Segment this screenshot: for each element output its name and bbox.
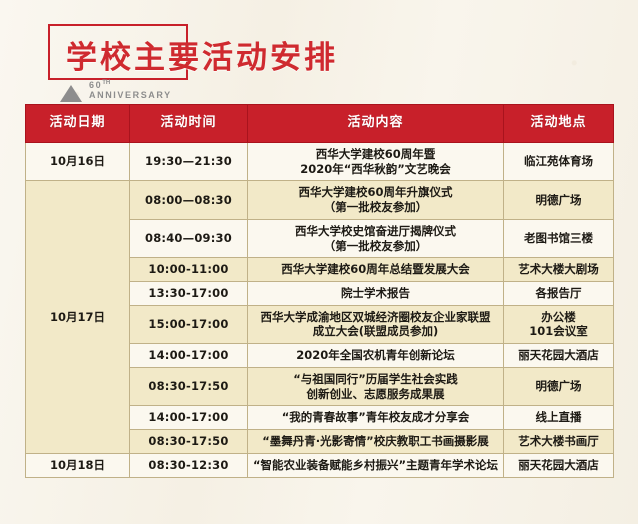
- cell-line: 西华大学成渝地区双城经济圈校友企业家联盟: [251, 310, 500, 325]
- cell-activity-content: “墨舞丹青·光影寄情”校庆教职工书画摄影展: [248, 430, 504, 454]
- table-row: 10月18日08:30-12:30“智能农业装备赋能乡村振兴”主题青年学术论坛丽…: [26, 453, 614, 477]
- cell-line: 院士学术报告: [251, 286, 500, 301]
- cell-activity-time: 10:00-11:00: [130, 258, 248, 282]
- cell-activity-content: 西华大学成渝地区双城经济圈校友企业家联盟成立大会(联盟成员参加): [248, 305, 504, 343]
- cell-activity-time: 13:30-17:00: [130, 282, 248, 306]
- cell-line: 艺术大楼大剧场: [507, 262, 610, 277]
- table-row: 10月17日08:00—08:30西华大学建校60周年升旗仪式（第一批校友参加）…: [26, 181, 614, 219]
- table-header-row: 活动日期 活动时间 活动内容 活动地点: [26, 105, 614, 143]
- cell-activity-place: 办公楼101会议室: [504, 305, 614, 343]
- cell-activity-time: 08:00—08:30: [130, 181, 248, 219]
- cell-activity-content: 西华大学建校60周年暨2020年“西华秋韵”文艺晚会: [248, 143, 504, 181]
- poster-sheet: 学校主要活动安排 60TH ANNIVERSARY 活动日期 活动时间 活动内容…: [0, 0, 638, 524]
- anniversary-word: ANNIVERSARY: [89, 90, 172, 100]
- cell-line: 西华大学建校60周年总结暨发展大会: [251, 262, 500, 277]
- cell-line: 成立大会(联盟成员参加): [251, 324, 500, 339]
- cell-activity-content: 2020年全国农机青年创新论坛: [248, 344, 504, 368]
- column-header-date: 活动日期: [26, 105, 130, 143]
- cell-line: （第一批校友参加）: [251, 200, 500, 215]
- cell-activity-content: “我的青春故事”青年校友成才分享会: [248, 406, 504, 430]
- cell-line: 丽天花园大酒店: [507, 348, 610, 363]
- cell-line: 2020年全国农机青年创新论坛: [251, 348, 500, 363]
- triangle-icon: [60, 85, 82, 102]
- anniversary-number: 60: [89, 80, 102, 90]
- cell-line: “我的青春故事”青年校友成才分享会: [251, 410, 500, 425]
- cell-line: “智能农业装备赋能乡村振兴”主题青年学术论坛: [251, 458, 500, 473]
- cell-activity-place: 丽天花园大酒店: [504, 453, 614, 477]
- cell-activity-content: 院士学术报告: [248, 282, 504, 306]
- cell-activity-time: 14:00-17:00: [130, 406, 248, 430]
- page-title: 学校主要活动安排: [66, 32, 338, 77]
- cell-line: 明德广场: [507, 379, 610, 394]
- cell-line: “墨舞丹青·光影寄情”校庆教职工书画摄影展: [251, 434, 500, 449]
- cell-activity-content: “智能农业装备赋能乡村振兴”主题青年学术论坛: [248, 453, 504, 477]
- cell-line: 明德广场: [507, 193, 610, 208]
- cell-activity-place: 明德广场: [504, 367, 614, 405]
- cell-line: 西华大学建校60周年暨: [251, 147, 500, 162]
- table-body: 10月16日19:30—21:30西华大学建校60周年暨2020年“西华秋韵”文…: [26, 143, 614, 478]
- cell-activity-content: 西华大学建校60周年升旗仪式（第一批校友参加）: [248, 181, 504, 219]
- cell-activity-place: 艺术大楼书画厅: [504, 430, 614, 454]
- cell-activity-place: 明德广场: [504, 181, 614, 219]
- cell-activity-place: 临江苑体育场: [504, 143, 614, 181]
- cell-activity-time: 08:40—09:30: [130, 219, 248, 257]
- cell-activity-place: 各报告厅: [504, 282, 614, 306]
- cell-activity-time: 14:00-17:00: [130, 344, 248, 368]
- cell-activity-date: 10月18日: [26, 453, 130, 477]
- cell-activity-place: 线上直播: [504, 406, 614, 430]
- table-header: 活动日期 活动时间 活动内容 活动地点: [26, 105, 614, 143]
- table-row: 10月16日19:30—21:30西华大学建校60周年暨2020年“西华秋韵”文…: [26, 143, 614, 181]
- cell-activity-place: 老图书馆三楼: [504, 219, 614, 257]
- cell-activity-date: 10月17日: [26, 181, 130, 453]
- column-header-content: 活动内容: [248, 105, 504, 143]
- cell-activity-place: 丽天花园大酒店: [504, 344, 614, 368]
- cell-line: 西华大学校史馆奋进厅揭牌仪式: [251, 224, 500, 239]
- cell-activity-time: 15:00-17:00: [130, 305, 248, 343]
- cell-line: 2020年“西华秋韵”文艺晚会: [251, 162, 500, 177]
- column-header-place: 活动地点: [504, 105, 614, 143]
- cell-activity-content: “与祖国同行”历届学生社会实践创新创业、志愿服务成果展: [248, 367, 504, 405]
- cell-activity-place: 艺术大楼大剧场: [504, 258, 614, 282]
- cell-line: “与祖国同行”历届学生社会实践: [251, 372, 500, 387]
- anniversary-mark: 60TH ANNIVERSARY: [60, 80, 172, 102]
- cell-line: 老图书馆三楼: [507, 231, 610, 246]
- cell-activity-time: 08:30-17:50: [130, 430, 248, 454]
- anniversary-suffix: TH: [102, 80, 110, 86]
- cell-line: 101会议室: [507, 324, 610, 339]
- cell-line: 各报告厅: [507, 286, 610, 301]
- cell-line: 艺术大楼书画厅: [507, 434, 610, 449]
- cell-activity-content: 西华大学校史馆奋进厅揭牌仪式（第一批校友参加）: [248, 219, 504, 257]
- cell-activity-content: 西华大学建校60周年总结暨发展大会: [248, 258, 504, 282]
- cell-line: 创新创业、志愿服务成果展: [251, 387, 500, 402]
- cell-line: 办公楼: [507, 310, 610, 325]
- cell-line: 西华大学建校60周年升旗仪式: [251, 185, 500, 200]
- cell-line: 临江苑体育场: [507, 154, 610, 169]
- cell-line: 丽天花园大酒店: [507, 458, 610, 473]
- cell-activity-time: 19:30—21:30: [130, 143, 248, 181]
- schedule-table: 活动日期 活动时间 活动内容 活动地点 10月16日19:30—21:30西华大…: [25, 104, 614, 478]
- schedule-table-wrapper: 活动日期 活动时间 活动内容 活动地点 10月16日19:30—21:30西华大…: [25, 104, 613, 478]
- cell-activity-date: 10月16日: [26, 143, 130, 181]
- anniversary-label: 60TH ANNIVERSARY: [89, 80, 172, 102]
- cell-activity-time: 08:30-17:50: [130, 367, 248, 405]
- cell-line: （第一批校友参加）: [251, 239, 500, 254]
- cell-line: 线上直播: [507, 410, 610, 425]
- cell-activity-time: 08:30-12:30: [130, 453, 248, 477]
- column-header-time: 活动时间: [130, 105, 248, 143]
